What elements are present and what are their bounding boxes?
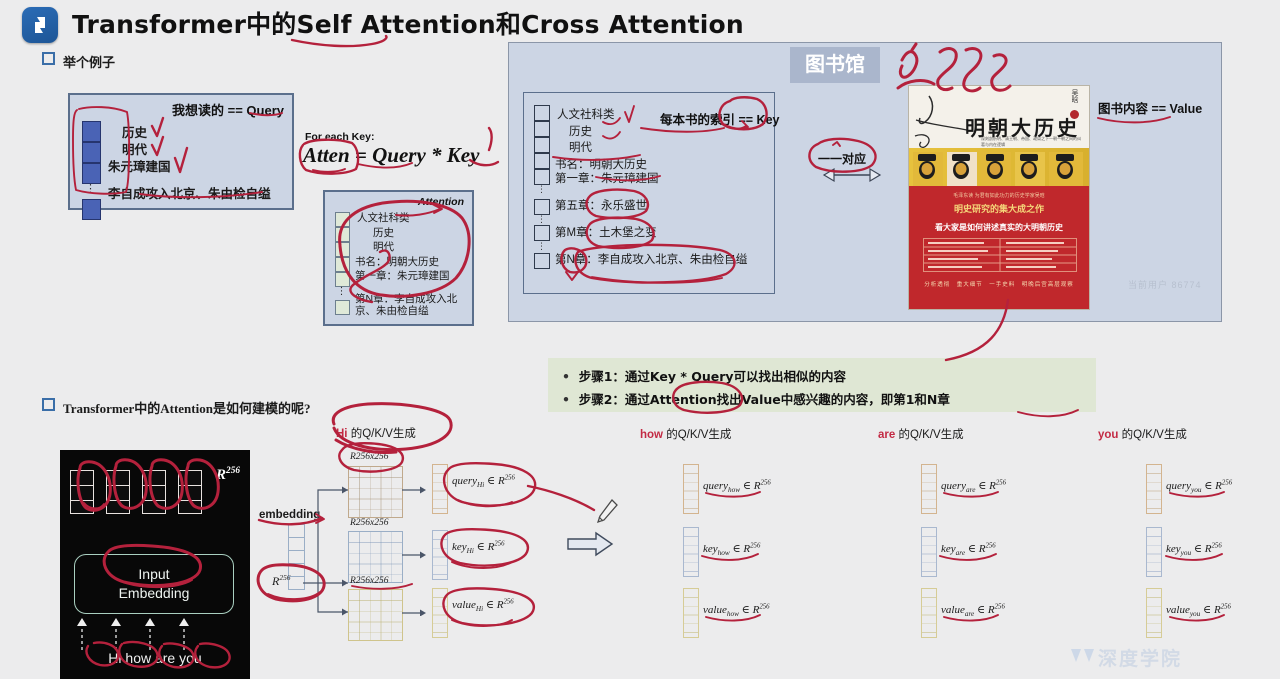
qkv-label-key-are: keyare ∈ R256: [941, 542, 996, 557]
square-bullet-icon: [42, 52, 55, 65]
book-subtitle: 深刻剖析明、清王朝、帝国、政局之下一朝一朝之间的纠葛与内在逻辑: [981, 136, 1081, 148]
qkv-name: key: [941, 543, 956, 555]
user-watermark: 当前用户 86774: [1128, 278, 1202, 291]
qkv-label-value-are: valueare ∈ R256: [941, 603, 1005, 618]
attention-vector-cell: [335, 300, 350, 315]
key-item: 第五章：永乐盛世: [555, 197, 647, 213]
qkv-sub: are: [965, 610, 974, 618]
column-header-suffix: 的Q/K/V生成: [666, 429, 731, 441]
qkv-name: value: [452, 599, 476, 611]
qkv-sub: are: [966, 486, 975, 494]
key-item: 第N章：李自成攻入北京、朱由检自缢: [555, 251, 747, 267]
section-bullet-example-label: 举个例子: [63, 55, 115, 70]
qkv-sub: Hi: [476, 605, 483, 613]
key-vector-cell: [534, 199, 550, 215]
pen-cursor-icon: [596, 498, 620, 526]
qkv-sub: how: [718, 549, 730, 557]
query-vector-cell: [82, 199, 101, 220]
value-label: 图书内容 == Value: [1098, 98, 1202, 117]
column-token-you: you: [1098, 429, 1118, 441]
matrix-output-arrows-icon: [402, 466, 432, 616]
qkv-sub: how: [727, 610, 739, 618]
formula-caption: For each Key:: [305, 131, 374, 143]
column-header-you: you 的Q/K/V生成: [1098, 426, 1187, 442]
embedding-vector: [106, 470, 130, 514]
attention-vector-cell: [335, 257, 350, 272]
column-header-suffix: 的Q/K/V生成: [351, 428, 416, 440]
column-header-how: how 的Q/K/V生成: [640, 426, 731, 442]
query-vector-how: [683, 464, 699, 514]
query-vector-are: [921, 464, 937, 514]
embedding-vectors-row: [70, 470, 202, 514]
query-vector-cell: [82, 142, 101, 163]
value-vector-you: [1146, 588, 1162, 638]
key-vector-top: [534, 105, 550, 169]
column-header-are: are 的Q/K/V生成: [878, 426, 964, 442]
qkv-label-query-are: queryare ∈ R256: [941, 479, 1006, 494]
attention-panel-title: Attention: [418, 196, 464, 208]
weight-matrix-dim-label: R256x256: [350, 576, 389, 586]
key-vector-cell: [534, 137, 550, 153]
key-item: 第一章：朱元璋建国: [555, 170, 659, 186]
query-vector-hi: [432, 464, 448, 514]
attention-item: 第一章：朱元璋建国: [355, 268, 450, 283]
value-vector-hi: [432, 588, 448, 638]
brand-logo-icon: [1070, 646, 1098, 666]
next-step-arrow-icon: [566, 531, 614, 557]
library-tag: 图书馆: [790, 47, 880, 83]
attention-vector-cell: [335, 212, 350, 227]
value-vector-how: [683, 588, 699, 638]
key-vector-cell: [534, 153, 550, 169]
input-embedding-block: Input Embedding: [74, 554, 234, 614]
attention-item: 明代: [373, 239, 394, 254]
column-header-hi: Hi 的Q/K/V生成: [336, 425, 416, 441]
key-vector-cell: [534, 105, 550, 121]
key-vector-hi: [432, 530, 448, 580]
column-token-are: are: [878, 429, 895, 441]
qkv-name: value: [941, 604, 965, 616]
book-banner-line2: 明史研究的集大成之作: [917, 202, 1081, 215]
query-panel: 我想读的 == Query ⋮ 历史 明代 朱元璋建国 李自成攻入北京、朱由检自…: [68, 93, 294, 210]
book-banner-line1: 毛泽东读 为君有如此功力的历史学家吴晗: [917, 192, 1081, 199]
attention-formula: Atten = Query * Key: [303, 143, 479, 168]
book-banner-footer: 分析透彻 重大细节 一手史料 明晚后宫高层观察: [917, 280, 1081, 288]
qkv-sub: how: [728, 486, 740, 494]
qkv-name: key: [1166, 543, 1181, 555]
key-vector-you: [1146, 527, 1162, 577]
column-header-suffix: 的Q/K/V生成: [898, 429, 963, 441]
vertical-ellipsis: ⋮: [537, 215, 546, 224]
attention-item: 人文社科类: [357, 210, 410, 225]
key-vector-cell: [534, 169, 550, 185]
qkv-label-value-you: valueyou ∈ R256: [1166, 603, 1231, 618]
embedding-vector: [142, 470, 166, 514]
qkv-label-value-hi: valueHi ∈ R256: [452, 598, 514, 613]
qkv-label-key-hi: keyHi ∈ R256: [452, 540, 505, 555]
query-vector-you: [1146, 464, 1162, 514]
app-logo-icon: [22, 7, 58, 43]
page-title: Transformer中的Self Attention和Cross Attent…: [72, 5, 744, 41]
column-header-suffix: 的Q/K/V生成: [1122, 429, 1187, 441]
embedding-dim-label: R256: [216, 466, 240, 484]
embedding-vector: [70, 470, 94, 514]
vertical-ellipsis: ⋮: [335, 287, 348, 300]
qkv-label-query-hi: queryHi ∈ R256: [452, 474, 515, 489]
book-banner-line3: 看大家是如何讲述真实的大明朝历史: [917, 222, 1081, 233]
qkv-name: key: [703, 543, 718, 555]
weight-matrix-query: [348, 466, 403, 518]
double-arrow-icon: [812, 166, 892, 184]
steps-box: • 步骤1：通过Key * Query可以找出相似的内容 • 步骤2：通过Att…: [548, 358, 1096, 412]
qkv-sub: are: [956, 549, 965, 557]
weight-matrix-value: [348, 589, 403, 641]
qkv-label-value-how: valuehow ∈ R256: [703, 603, 770, 618]
key-vector-cell: [534, 253, 550, 269]
vertical-ellipsis: ⋮: [537, 185, 546, 194]
query-item: 朱元璋建国: [108, 156, 171, 175]
key-item: 历史: [569, 123, 592, 139]
qkv-label-query-how: queryhow ∈ R256: [703, 479, 771, 494]
book-author: 吴晗: [1069, 89, 1079, 103]
brand-watermark-label: 深度学院: [1098, 649, 1182, 670]
key-vector-are: [921, 527, 937, 577]
brand-watermark: 深度学院: [1098, 644, 1182, 671]
qkv-name: value: [703, 604, 727, 616]
qkv-name: query: [1166, 480, 1191, 492]
input-sentence: Hi how are you: [60, 650, 250, 666]
key-item: 人文社科类: [557, 106, 615, 122]
section-bullet-modeling: Transformer中的Attention是如何建模的呢?: [42, 398, 310, 417]
qkv-name: value: [1166, 604, 1190, 616]
key-vector-cell: [534, 225, 550, 241]
section-bullet-example: 举个例子: [42, 52, 115, 71]
value-vector-are: [921, 588, 937, 638]
key-label: 每本书的索引 == Key: [660, 109, 779, 128]
qkv-label-key-you: keyyou ∈ R256: [1166, 542, 1222, 557]
book-banner-table: [923, 238, 1077, 272]
input-embedding-line2: Embedding: [75, 584, 233, 603]
key-item: 明代: [569, 139, 592, 155]
query-vector: ⋮: [82, 121, 101, 220]
qkv-name: query: [452, 475, 477, 487]
attention-vector-cell: [335, 242, 350, 257]
qkv-name: query: [703, 480, 728, 492]
key-item: 第M章：土木堡之变: [555, 224, 657, 240]
key-vector-cell: [534, 121, 550, 137]
book-banner: 毛泽东读 为君有如此功力的历史学家吴晗 明史研究的集大成之作 看大家是如何讲述真…: [909, 186, 1089, 309]
section-bullet-modeling-label: Transformer中的Attention是如何建模的呢?: [63, 401, 310, 416]
attention-item: 书名：明朝大历史: [355, 254, 439, 269]
embedding-dim-label: R256: [272, 573, 291, 589]
column-token-how: how: [640, 429, 663, 441]
book-emperors-band: [909, 148, 1089, 186]
qkv-name: key: [452, 541, 467, 553]
step-1-label: 步骤1：通过Key * Query可以找出相似的内容: [579, 369, 846, 384]
dashed-arrows-icon: [70, 616, 240, 650]
vertical-ellipsis: ⋮: [82, 184, 99, 199]
qkv-name: query: [941, 480, 966, 492]
qkv-sub: you: [1181, 549, 1191, 557]
qkv-label-query-you: queryyou ∈ R256: [1166, 479, 1232, 494]
vertical-ellipsis: ⋮: [537, 242, 546, 251]
query-vector-cell: [82, 163, 101, 184]
correspondence-label: 一一对应: [818, 150, 866, 167]
attention-vector-cell: [335, 227, 350, 242]
column-token-hi: Hi: [336, 428, 348, 440]
qkv-sub: you: [1190, 610, 1200, 618]
embedding-vector: [178, 470, 202, 514]
qkv-sub: you: [1191, 486, 1201, 494]
square-bullet-icon: [42, 398, 55, 411]
step-2-label: 步骤2：通过Attention找出Value中感兴趣的内容，即第1和N章: [579, 392, 950, 407]
input-embedding-line1: Input: [75, 565, 233, 584]
step-item: • 步骤2：通过Attention找出Value中感兴趣的内容，即第1和N章: [562, 389, 950, 408]
attention-panel: Attention ⋮ 人文社科类 历史 明代 书名：明朝大历史 第一章：朱元璋…: [323, 190, 474, 326]
input-embedding-figure: R256 Input Embedding Hi how are you: [60, 450, 250, 679]
step-item: • 步骤1：通过Key * Query可以找出相似的内容: [562, 366, 846, 385]
weight-matrix-dim-label: R256x256: [350, 518, 389, 528]
query-item: 李自成攻入北京、朱由检自缢: [108, 183, 271, 202]
weight-matrix-dim-label: R256x256: [350, 452, 389, 462]
attention-item: 历史: [373, 225, 394, 240]
query-panel-title: 我想读的 == Query: [172, 100, 284, 119]
attention-item: 第N章：李自成攻入北京、朱由检自缢: [355, 293, 467, 317]
attention-vector-cell: [335, 272, 350, 287]
qkv-label-key-how: keyhow ∈ R256: [703, 542, 760, 557]
qkv-sub: Hi: [477, 481, 484, 489]
book-cover: 吴晗 明朝大历史 深刻剖析明、清王朝、帝国、政局之下一朝一朝之间的纠葛与内在逻辑…: [908, 85, 1090, 310]
attention-vector: ⋮: [335, 212, 350, 315]
qkv-sub: Hi: [467, 547, 474, 555]
key-vector-how: [683, 527, 699, 577]
query-vector-cell: [82, 121, 101, 142]
